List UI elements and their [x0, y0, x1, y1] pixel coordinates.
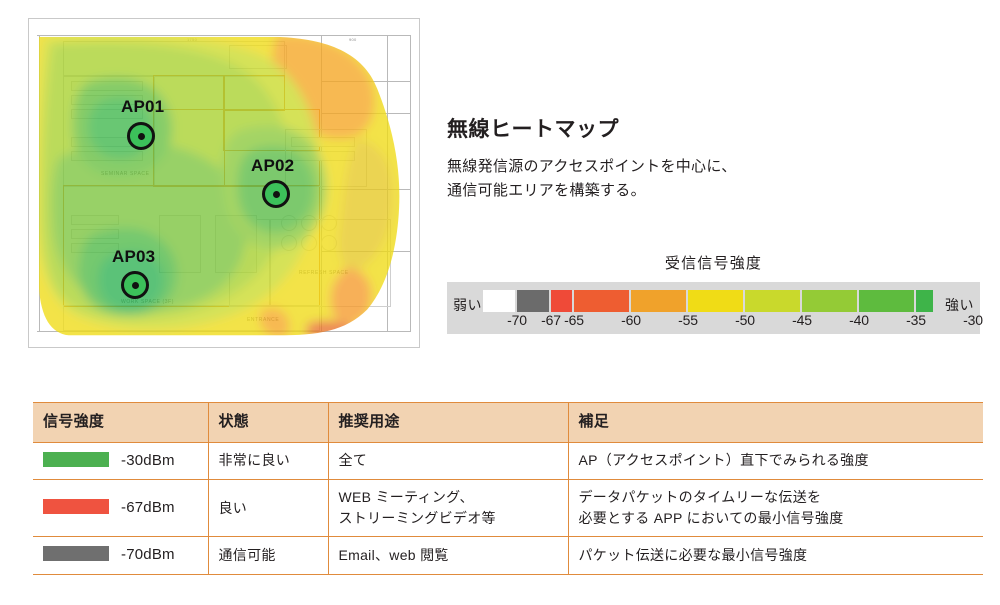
- legend-tick--50: -50: [735, 312, 755, 328]
- signal-dbm-value: -67dBm: [121, 499, 175, 516]
- floorplan-furniture: [215, 215, 257, 273]
- floorplan-furniture: [321, 215, 337, 231]
- ap-marker-ap03[interactable]: [121, 271, 149, 299]
- floorplan-room: [269, 219, 391, 307]
- legend-segment-0: [483, 290, 517, 312]
- floorplan-gridline: [410, 35, 411, 331]
- signal-strength-legend: 受信信号強度 弱い -70-67-65-60-55-50-45-40-35-30…: [447, 252, 980, 334]
- table-row: -70dBm通信可能Email、web 閲覧パケット伝送に必要な最小信号強度: [33, 537, 983, 575]
- legend-tick--67: -67: [541, 312, 561, 328]
- legend-segment-4: [631, 290, 688, 312]
- cell-note: パケット伝送に必要な最小信号強度: [568, 537, 983, 575]
- cell-note: データパケットのタイムリーな伝送を必要とする APP においての最小信号強度: [568, 480, 983, 537]
- signal-strength-table: 信号強度 状態 推奨用途 補足 -30dBm非常に良い全てAP（アクセスポイント…: [33, 402, 983, 575]
- floorplan-gridline: [37, 35, 411, 36]
- floorplan-furniture: [71, 215, 119, 225]
- legend-tick--40: -40: [849, 312, 869, 328]
- signal-dbm-value: -70dBm: [121, 546, 175, 563]
- floorplan-room: [63, 305, 320, 331]
- legend-segment-9: [916, 290, 933, 312]
- floorplan-furniture: [321, 235, 337, 251]
- ap-center-dot: [132, 282, 139, 289]
- column-header-state: 状態: [208, 403, 328, 443]
- cell-state: 通信可能: [208, 537, 328, 575]
- ap-marker-ap01[interactable]: [127, 122, 155, 150]
- floorplan-furniture: [71, 229, 119, 239]
- cell-note: AP（アクセスポイント）直下でみられる強度: [568, 442, 983, 480]
- ap-center-dot: [138, 133, 145, 140]
- floorplan-dimension: 1750: [187, 37, 197, 42]
- floorplan-furniture: [71, 81, 143, 91]
- legend-title: 受信信号強度: [447, 252, 980, 273]
- heatmap-description: 無線ヒートマップ 無線発信源のアクセスポイントを中心に、 通信可能エリアを構築す…: [447, 118, 967, 204]
- legend-scale-box: 弱い -70-67-65-60-55-50-45-40-35-30 強い: [447, 282, 980, 334]
- cell-signal-strength: -70dBm: [33, 537, 208, 575]
- floorplan-furniture: [291, 137, 355, 147]
- floorplan-room-label: WORK SPACE (3F): [121, 299, 174, 305]
- legend-tick--70: -70: [507, 312, 527, 328]
- ap-label-ap02: AP02: [251, 156, 294, 176]
- legend-tick--35: -35: [906, 312, 926, 328]
- floorplan-furniture: [301, 235, 317, 251]
- legend-tick--65: -65: [564, 312, 584, 328]
- page-title: 無線ヒートマップ: [447, 118, 967, 141]
- table-row: -67dBm良いWEB ミーティング、ストリーミングビデオ等データパケットのタイ…: [33, 480, 983, 537]
- cell-recommended-use: WEB ミーティング、ストリーミングビデオ等: [328, 480, 568, 537]
- floorplan-gridline: [321, 189, 411, 190]
- legend-tick--55: -55: [678, 312, 698, 328]
- legend-color-bar: [483, 290, 933, 312]
- cell-recommended-use-line: ストリーミングビデオ等: [339, 508, 558, 529]
- cell-state: 良い: [208, 480, 328, 537]
- floorplan-furniture: [281, 215, 297, 231]
- ap-marker-ap02[interactable]: [262, 180, 290, 208]
- signal-color-swatch: [43, 546, 109, 561]
- signal-dbm-value: -30dBm: [121, 452, 175, 469]
- ap-center-dot: [273, 191, 280, 198]
- floorplan-room-label: REFRESH SPACE: [299, 270, 349, 276]
- signal-color-swatch: [43, 452, 109, 467]
- floorplan-frame: 1750 900 SEMINAR SPACE REFRESH SPACE ENT…: [28, 18, 420, 348]
- cell-recommended-use-line: Email、web 閲覧: [339, 545, 558, 566]
- table-row: -30dBm非常に良い全てAP（アクセスポイント）直下でみられる強度: [33, 442, 983, 480]
- legend-segment-3: [574, 290, 631, 312]
- floorplan-furniture: [159, 215, 201, 273]
- legend-segment-2: [551, 290, 574, 312]
- ap-label-ap03: AP03: [112, 247, 155, 267]
- legend-segment-5: [688, 290, 745, 312]
- table-header-row: 信号強度 状態 推奨用途 補足: [33, 403, 983, 443]
- column-header-recommended-use: 推奨用途: [328, 403, 568, 443]
- column-header-signal-strength: 信号強度: [33, 403, 208, 443]
- cell-recommended-use-line: 全て: [339, 450, 558, 471]
- floorplan-room-label: SEMINAR SPACE: [101, 171, 150, 177]
- legend-tick--60: -60: [621, 312, 641, 328]
- floorplan-gridline: [321, 113, 411, 114]
- floorplan-furniture: [291, 151, 355, 161]
- floorplan-gridline: [37, 331, 411, 332]
- floorplan-furniture: [281, 235, 297, 251]
- legend-tick-labels: -70-67-65-60-55-50-45-40-35-30: [483, 312, 933, 332]
- ap-label-ap01: AP01: [121, 97, 164, 117]
- legend-weak-label: 弱い: [453, 295, 482, 315]
- floorplan-gridline: [321, 81, 411, 82]
- cell-note-line: パケット伝送に必要な最小信号強度: [579, 545, 974, 566]
- cell-signal-strength: -30dBm: [33, 442, 208, 480]
- floorplan-furniture: [71, 151, 143, 161]
- floorplan-gridline: [39, 35, 40, 331]
- legend-segment-7: [802, 290, 859, 312]
- cell-note-line: データパケットのタイムリーな伝送を: [579, 487, 974, 508]
- floorplan-dimension: 900: [349, 37, 357, 42]
- legend-strong-label: 強い: [945, 295, 974, 315]
- legend-tick--45: -45: [792, 312, 812, 328]
- floorplan-room-label: ENTRANCE: [247, 317, 279, 323]
- floorplan-room: [223, 75, 285, 111]
- cell-note-line: 必要とする APP においての最小信号強度: [579, 508, 974, 529]
- cell-signal-strength: -67dBm: [33, 480, 208, 537]
- floorplan-room: [229, 45, 287, 69]
- legend-segment-6: [745, 290, 802, 312]
- legend-segment-8: [859, 290, 916, 312]
- legend-segment-1: [517, 290, 551, 312]
- cell-note-line: AP（アクセスポイント）直下でみられる強度: [579, 450, 974, 471]
- floorplan-furniture: [301, 215, 317, 231]
- cell-recommended-use: 全て: [328, 442, 568, 480]
- signal-color-swatch: [43, 499, 109, 514]
- cell-state: 非常に良い: [208, 442, 328, 480]
- cell-recommended-use: Email、web 閲覧: [328, 537, 568, 575]
- wireless-heatmap-figure: 1750 900 SEMINAR SPACE REFRESH SPACE ENT…: [28, 18, 420, 348]
- description-line-2: 通信可能エリアを構築する。: [447, 179, 967, 203]
- description-line-1: 無線発信源のアクセスポイントを中心に、: [447, 155, 967, 179]
- cell-recommended-use-line: WEB ミーティング、: [339, 487, 558, 508]
- column-header-note: 補足: [568, 403, 983, 443]
